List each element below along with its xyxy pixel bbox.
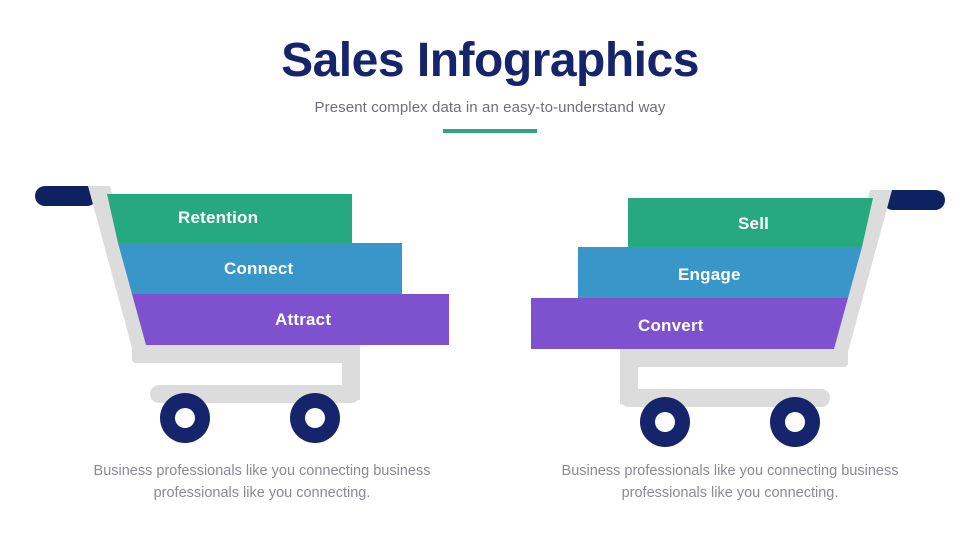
cart-handle-right xyxy=(883,190,945,210)
cart-bar-label-connect: Connect xyxy=(224,259,293,279)
slide-canvas: Sales Infographics Present complex data … xyxy=(0,0,980,551)
shopping-cart-icon-right xyxy=(508,180,958,450)
cart-caption-left: Business professionals like you connecti… xyxy=(62,461,462,505)
cart-handle-left xyxy=(35,186,97,206)
cart-bar-label-engage: Engage xyxy=(678,265,741,285)
cart-caption-right: Business professionals like you connecti… xyxy=(530,461,930,505)
accent-divider xyxy=(443,129,537,133)
page-title: Sales Infographics xyxy=(0,34,980,88)
page-subtitle: Present complex data in an easy-to-under… xyxy=(0,99,980,116)
cart-bar-label-attract: Attract xyxy=(275,310,331,330)
cart-bar-label-retention: Retention xyxy=(178,208,258,228)
cart-bar-label-convert: Convert xyxy=(638,316,704,336)
slide-header: Sales Infographics Present complex data … xyxy=(0,34,980,133)
cart-infographic-right: Sell Engage Convert xyxy=(508,180,958,450)
cart-bar-label-sell: Sell xyxy=(738,214,769,234)
cart-infographic-left: Retention Connect Attract xyxy=(22,180,472,450)
